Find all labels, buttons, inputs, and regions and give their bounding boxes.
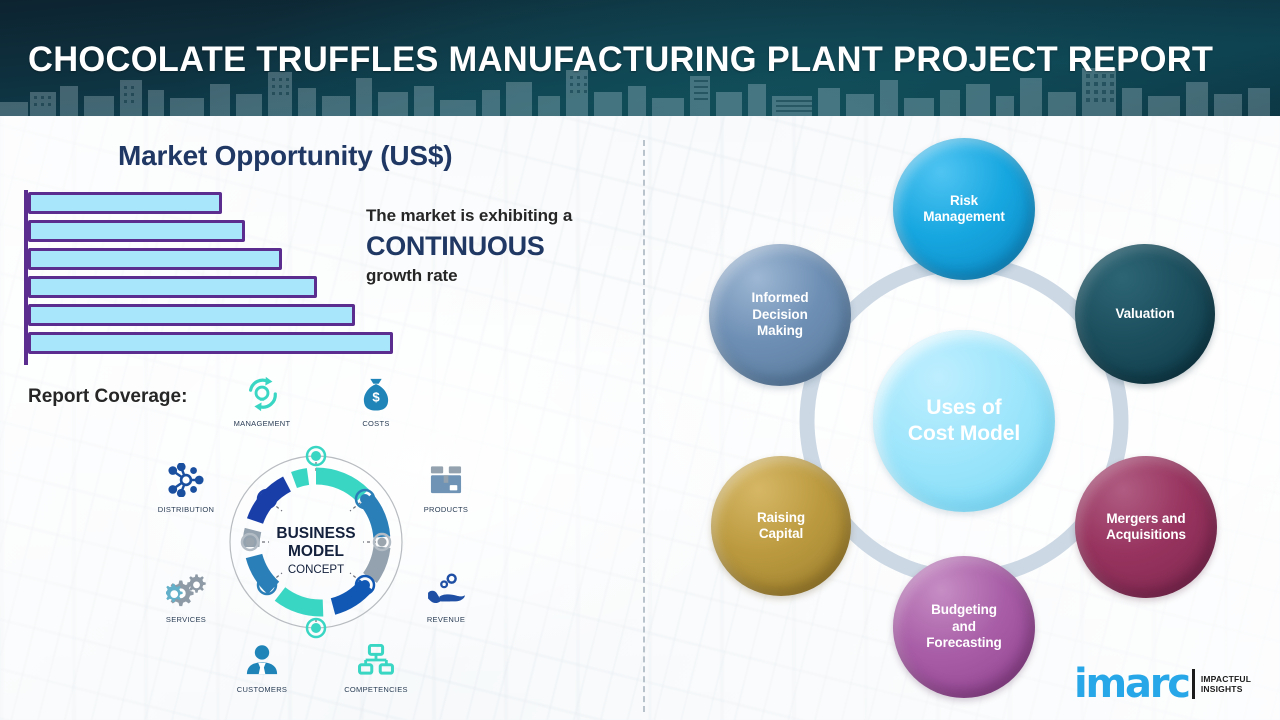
logo-tagline: IMPACTFUL INSIGHTS — [1201, 674, 1251, 694]
coverage-item-customers: CUSTOMERS — [214, 638, 310, 694]
bubble-budget-line2: and — [920, 619, 1007, 635]
lightbulb-recycle-icon — [214, 372, 310, 416]
hand-coins-icon — [398, 568, 494, 612]
growth-statement: The market is exhibiting a CONTINUOUS gr… — [366, 205, 636, 286]
bubble-risk-line1: Risk — [917, 193, 1011, 209]
bubble-center-line1: Uses of — [902, 395, 1026, 421]
growth-statement-line1: The market is exhibiting a — [366, 205, 636, 226]
bubble-informed-line2: Decision — [746, 307, 815, 323]
growth-statement-line3: growth rate — [366, 266, 636, 286]
business-model-wheel: BUSINESS MODEL CONCEPT MANAGEMENT — [130, 370, 510, 710]
svg-text:$: $ — [372, 390, 380, 405]
wheel-center-line2: MODEL — [288, 543, 344, 560]
coverage-label-revenue: REVENUE — [398, 615, 494, 624]
bubble-risk-management[interactable]: Risk Management — [893, 138, 1035, 280]
bar-6 — [28, 332, 393, 354]
bar-5 — [28, 304, 355, 326]
bar-4 — [28, 276, 317, 298]
coverage-label-costs: COSTS — [328, 419, 424, 428]
bubble-valuation-line1: Valuation — [1109, 306, 1180, 322]
bubble-raising-capital[interactable]: Raising Capital — [711, 456, 851, 596]
bubble-raising-line2: Capital — [751, 526, 811, 542]
slide-canvas: CHOCOLATE TRUFFLES MANUFACTURING PLANT P… — [0, 0, 1280, 720]
bar-2 — [28, 220, 245, 242]
org-chart-icon — [328, 638, 424, 682]
coverage-label-distribution: DISTRIBUTION — [138, 505, 234, 514]
person-users-icon — [214, 638, 310, 682]
bar-1 — [28, 192, 222, 214]
network-nodes-icon — [138, 458, 234, 502]
bar-3 — [28, 248, 282, 270]
wheel-center-line3: CONCEPT — [288, 564, 344, 576]
logo-divider — [1192, 669, 1195, 699]
coverage-label-competencies: COMPETENCIES — [328, 685, 424, 694]
coverage-label-management: MANAGEMENT — [214, 419, 310, 428]
bubble-informed-line3: Making — [746, 323, 815, 339]
bubble-budget-line1: Budgeting — [920, 602, 1007, 618]
market-opportunity-bar-chart — [24, 190, 404, 365]
bubble-center-uses-of-cost-model[interactable]: Uses of Cost Model — [873, 330, 1055, 512]
imarc-wordmark: imarc — [1074, 666, 1189, 702]
bubble-mergers-line2: Acquisitions — [1100, 527, 1192, 543]
box-package-icon — [398, 458, 494, 502]
bubble-risk-line2: Management — [917, 209, 1011, 225]
coverage-item-services: SERVICES — [138, 568, 234, 624]
growth-statement-highlight: CONTINUOUS — [366, 228, 636, 266]
coverage-item-products: PRODUCTS — [398, 458, 494, 514]
coverage-item-competencies: COMPETENCIES — [328, 638, 424, 694]
bubble-budget-line3: Forecasting — [920, 635, 1007, 651]
logo-tagline-line2: INSIGHTS — [1201, 684, 1251, 694]
bubble-raising-line1: Raising — [751, 510, 811, 526]
bubble-budgeting-forecasting[interactable]: Budgeting and Forecasting — [893, 556, 1035, 698]
imarc-logo[interactable]: imarc IMPACTFUL INSIGHTS — [1074, 662, 1270, 706]
coverage-item-distribution: DISTRIBUTION — [138, 458, 234, 514]
coverage-item-revenue: REVENUE — [398, 568, 494, 624]
bubble-informed-decision-making[interactable]: Informed Decision Making — [709, 244, 851, 386]
bubble-center-line2: Cost Model — [902, 421, 1026, 447]
bubble-valuation[interactable]: Valuation — [1075, 244, 1215, 384]
slide-header: CHOCOLATE TRUFFLES MANUFACTURING PLANT P… — [0, 0, 1280, 116]
bubble-mergers-line1: Mergers and — [1100, 511, 1192, 527]
coverage-label-customers: CUSTOMERS — [214, 685, 310, 694]
wheel-center-line1: BUSINESS — [276, 525, 355, 542]
market-opportunity-title: Market Opportunity (US$) — [118, 140, 452, 172]
gears-icon — [138, 568, 234, 612]
logo-tagline-line1: IMPACTFUL — [1201, 674, 1251, 684]
page-title: CHOCOLATE TRUFFLES MANUFACTURING PLANT P… — [28, 40, 1213, 80]
uses-of-cost-model-diagram: Informed Decision Making Risk Management… — [643, 116, 1280, 720]
coverage-item-costs: $ COSTS — [328, 372, 424, 428]
money-bag-icon: $ — [328, 372, 424, 416]
coverage-label-products: PRODUCTS — [398, 505, 494, 514]
bubble-informed-line1: Informed — [746, 290, 815, 306]
coverage-item-management: MANAGEMENT — [214, 372, 310, 428]
bubble-mergers-acquisitions[interactable]: Mergers and Acquisitions — [1075, 456, 1217, 598]
wheel-graphic: BUSINESS MODEL CONCEPT — [130, 370, 510, 710]
coverage-label-services: SERVICES — [138, 615, 234, 624]
